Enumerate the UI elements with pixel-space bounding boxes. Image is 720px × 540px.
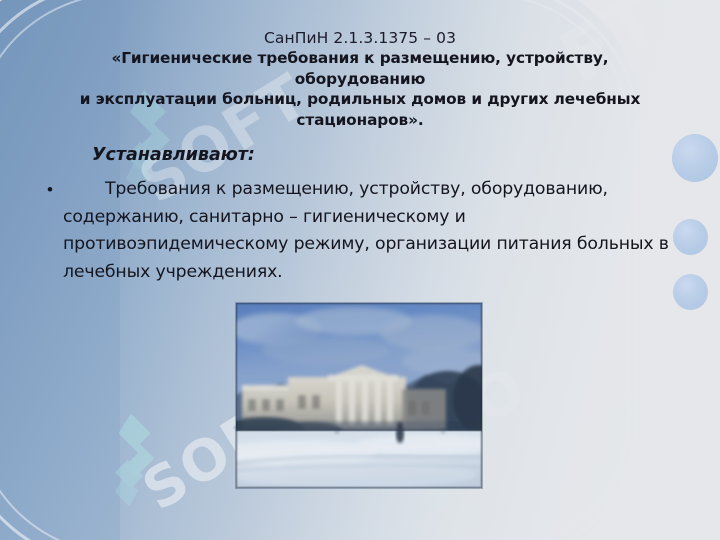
title-line-3: и эксплуатации больниц, родильных домов … xyxy=(26,89,694,110)
bullet-paragraph: Требования к размещению, устройству, обо… xyxy=(63,176,689,286)
hospital-building-photo-image xyxy=(236,303,482,488)
slide-title: СанПиН 2.1.3.1375 – 03 «Гигиенические тр… xyxy=(26,28,694,130)
watermark-logo-icon-2 xyxy=(86,410,176,510)
presentation-slide: SOFT SOFT FT SO СанПиН 2.1.3.1375 – 03 «… xyxy=(0,0,720,540)
title-line-2: «Гигиенические требования к размещению, … xyxy=(26,48,694,89)
bullet-marker: • xyxy=(44,176,63,204)
decorative-circle-1 xyxy=(672,134,718,182)
body-bullet-item: • Требования к размещению, устройству, о… xyxy=(44,176,689,286)
title-line-standard-number: СанПиН 2.1.3.1375 – 03 xyxy=(26,28,694,48)
hospital-building-photo xyxy=(236,303,482,488)
title-line-4: стационаров». xyxy=(26,110,694,131)
body-subheading: Устанавливают: xyxy=(92,145,255,165)
